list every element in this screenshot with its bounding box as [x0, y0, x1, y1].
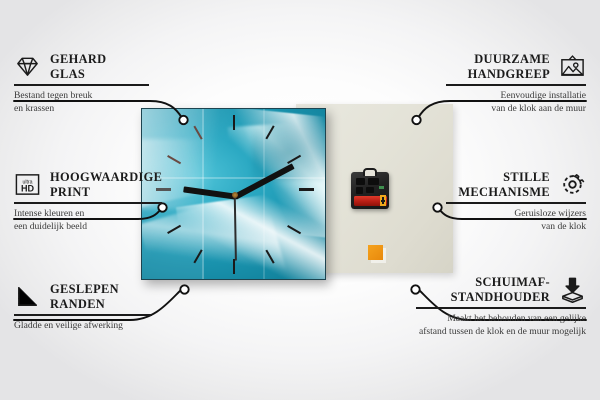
feature-subtitle: Geruisloze wijzers van de klok: [446, 208, 586, 233]
clock-tick: [233, 115, 235, 130]
feature-subtitle: Eenvoudige installatie van de klok aan d…: [446, 90, 586, 115]
clock-tick: [299, 188, 314, 191]
product-infographic: GEHARD GLAS Bestand tegen breuk en krass…: [0, 0, 600, 400]
divider-rule: [14, 84, 149, 86]
divider-rule: [416, 307, 586, 309]
feature-title: STILLE MECHANISME: [458, 170, 550, 199]
feature-gehard-glas: GEHARD GLAS Bestand tegen breuk en krass…: [14, 52, 154, 115]
feature-duurzame-handgreep: DUURZAME HANDGREEP Eenvoudige installati…: [446, 52, 586, 115]
feature-hoogwaardige-print: ultra HD HOOGWAARDIGE PRINT Intense kleu…: [14, 170, 166, 233]
divider-rule: [14, 314, 152, 316]
feature-title: DUURZAME HANDGREEP: [468, 52, 550, 81]
feature-title: SCHUIMAF- STANDHOUDER: [451, 275, 550, 304]
feature-subtitle: Bestand tegen breuk en krassen: [14, 90, 154, 115]
feature-title: GEHARD GLAS: [50, 52, 107, 81]
picture-frame-icon: [559, 53, 586, 80]
divider-rule: [446, 84, 586, 86]
foam-spacer: [368, 245, 383, 260]
divider-rule: [14, 202, 162, 204]
feature-stille-mechanisme: STILLE MECHANISME Geruisloze wijzers van…: [446, 170, 586, 233]
divider-rule: [446, 202, 586, 204]
feature-title: HOOGWAARDIGE PRINT: [50, 170, 162, 199]
beveled-edge-icon: [14, 283, 41, 310]
clock-center-cap: [232, 192, 238, 198]
diamond-icon: [14, 53, 41, 80]
gear-icon: [559, 171, 586, 198]
feature-schuimafstandhouder: SCHUIMAF- STANDHOUDER Maakt het behouden…: [416, 275, 586, 338]
svg-text:HD: HD: [21, 184, 35, 194]
feature-subtitle: Intense kleuren en een duidelijk beeld: [14, 208, 166, 233]
wall-clock-product: [141, 108, 326, 280]
press-down-icon: [559, 276, 586, 303]
feature-title: GESLEPEN RANDEN: [50, 282, 119, 311]
ultra-hd-icon: ultra HD: [14, 171, 41, 198]
feature-geslepen-randen: GESLEPEN RANDEN Gladde en veilige afwerk…: [14, 282, 156, 333]
feature-subtitle: Gladde en veilige afwerking: [14, 320, 156, 333]
clock-movement-mechanism: [351, 172, 389, 209]
feature-subtitle: Maakt het behouden van een gelijke afsta…: [416, 313, 586, 338]
clock-tick: [233, 259, 235, 274]
